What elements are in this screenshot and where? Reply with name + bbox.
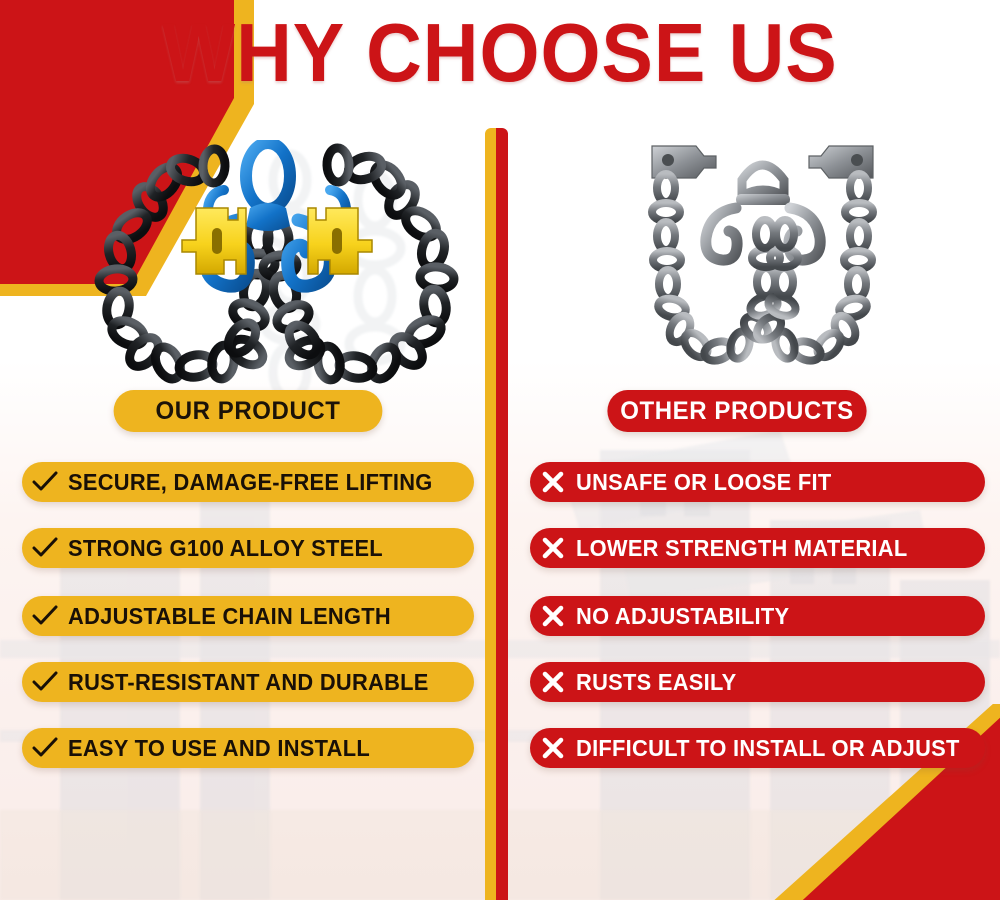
other-product-image (630, 132, 895, 377)
pro-list-item-label: SECURE, DAMAGE-FREE LIFTING (68, 469, 433, 496)
con-list-item: UNSAFE OR LOOSE FIT (530, 462, 985, 502)
con-list-item-label: RUSTS EASILY (576, 669, 736, 696)
cross-icon (530, 670, 576, 694)
other-products-badge-label: OTHER PRODUCTS (620, 397, 853, 426)
check-icon (22, 737, 68, 759)
pro-list-item: STRONG G100 ALLOY STEEL (22, 528, 474, 568)
cross-icon (530, 536, 576, 560)
con-list-item: LOWER STRENGTH MATERIAL (530, 528, 985, 568)
check-icon (22, 537, 68, 559)
divider-red-stripe (496, 128, 508, 900)
con-list-item-label: NO ADJUSTABILITY (576, 603, 789, 630)
other-products-badge: OTHER PRODUCTS (607, 390, 866, 432)
page-title: WHY CHOOSE US (35, 14, 965, 93)
pro-list-item: RUST-RESISTANT AND DURABLE (22, 662, 474, 702)
pro-list-item-label: EASY TO USE AND INSTALL (68, 735, 370, 762)
cross-icon (530, 604, 576, 628)
infographic-canvas: WHY CHOOSE US (0, 0, 1000, 900)
pro-list-item-label: RUST-RESISTANT AND DURABLE (68, 669, 429, 696)
con-list-item: RUSTS EASILY (530, 662, 985, 702)
check-icon (22, 471, 68, 493)
con-list-item: DIFFICULT TO INSTALL OR ADJUST (530, 728, 985, 768)
pro-list-item: ADJUSTABLE CHAIN LENGTH (22, 596, 474, 636)
cross-icon (530, 470, 576, 494)
cross-icon (530, 736, 576, 760)
con-list-item-label: UNSAFE OR LOOSE FIT (576, 469, 831, 496)
center-divider (485, 128, 508, 900)
pro-list-item-label: STRONG G100 ALLOY STEEL (68, 535, 383, 562)
check-icon (22, 671, 68, 693)
our-product-badge-label: OUR PRODUCT (155, 397, 340, 426)
divider-gold-stripe (485, 128, 496, 900)
our-product-badge: OUR PRODUCT (114, 390, 383, 432)
pro-list-item-label: ADJUSTABLE CHAIN LENGTH (68, 603, 391, 630)
con-list-item: NO ADJUSTABILITY (530, 596, 985, 636)
pro-list-item: SECURE, DAMAGE-FREE LIFTING (22, 462, 474, 502)
con-list-item-label: DIFFICULT TO INSTALL OR ADJUST (576, 735, 960, 762)
pro-list-item: EASY TO USE AND INSTALL (22, 728, 474, 768)
check-icon (22, 605, 68, 627)
con-list-item-label: LOWER STRENGTH MATERIAL (576, 535, 907, 562)
our-product-image (92, 140, 462, 385)
